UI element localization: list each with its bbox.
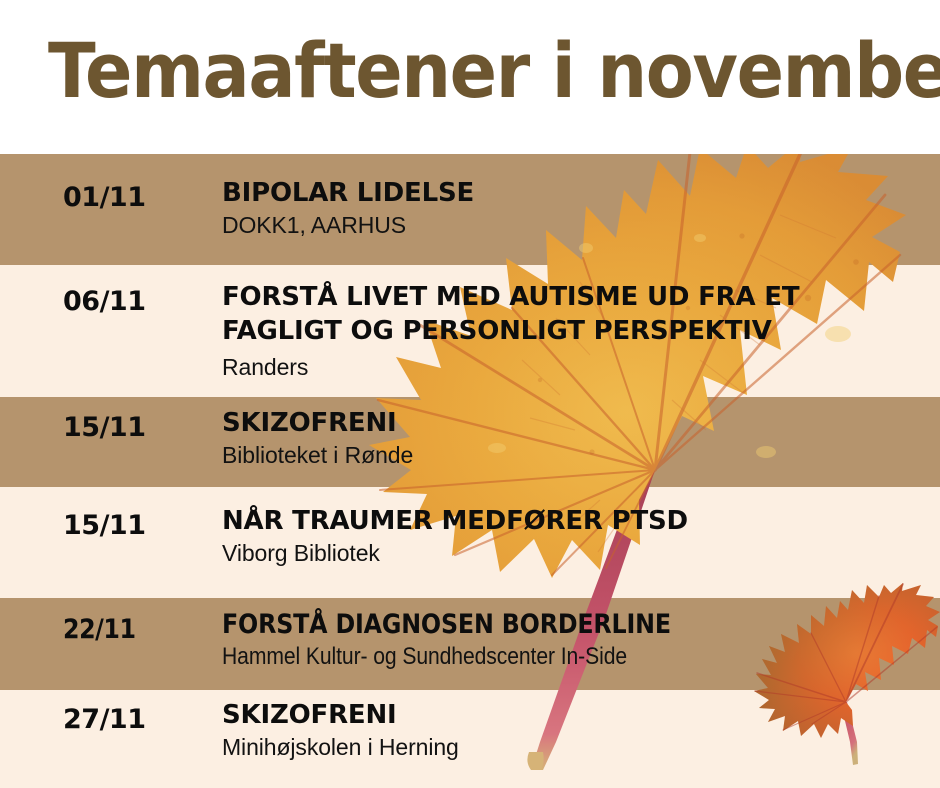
- event-venue: Biblioteket i Rønde: [222, 440, 940, 470]
- event-title-line: FORSTÅ DIAGNOSEN BORDERLINE: [222, 608, 854, 642]
- poster-canvas: Temaaftener i november 01/11 BIPOLAR LID…: [0, 0, 940, 788]
- event-date: 01/11: [63, 183, 146, 213]
- event-date: 15/11: [63, 511, 146, 541]
- event-title: SKIZOFRENI: [222, 698, 940, 732]
- event-venue: Viborg Bibliotek: [222, 538, 940, 568]
- event-title-line: FAGLIGT OG PERSONLIGT PERSPEKTIV: [222, 314, 940, 348]
- event-date: 27/11: [63, 705, 146, 735]
- event-venue: DOKK1, AARHUS: [222, 210, 940, 240]
- event-title-line: SKIZOFRENI: [222, 698, 940, 732]
- event-title: NÅR TRAUMER MEDFØRER PTSD: [222, 504, 940, 538]
- event-venue: Hammel Kultur- og Sundhedscenter In-Side: [222, 642, 854, 672]
- event-date: 22/11: [63, 615, 136, 645]
- page-title: Temaaftener i november: [48, 28, 940, 114]
- event-title-line: SKIZOFRENI: [222, 406, 940, 440]
- event-date: 06/11: [63, 287, 146, 317]
- event-venue: Minihøjskolen i Herning: [222, 732, 940, 762]
- event-title-line: FORSTÅ LIVET MED AUTISME UD FRA ET: [222, 280, 940, 314]
- event-title: FORSTÅ LIVET MED AUTISME UD FRA ET FAGLI…: [222, 280, 940, 348]
- event-title: BIPOLAR LIDELSE: [222, 176, 940, 210]
- event-venue: Randers: [222, 352, 940, 382]
- event-title-line: NÅR TRAUMER MEDFØRER PTSD: [222, 504, 940, 538]
- event-title: FORSTÅ DIAGNOSEN BORDERLINE: [222, 608, 854, 642]
- event-date: 15/11: [63, 413, 146, 443]
- header-band: Temaaftener i november: [0, 0, 940, 154]
- event-title: SKIZOFRENI: [222, 406, 940, 440]
- event-title-line: BIPOLAR LIDELSE: [222, 176, 940, 210]
